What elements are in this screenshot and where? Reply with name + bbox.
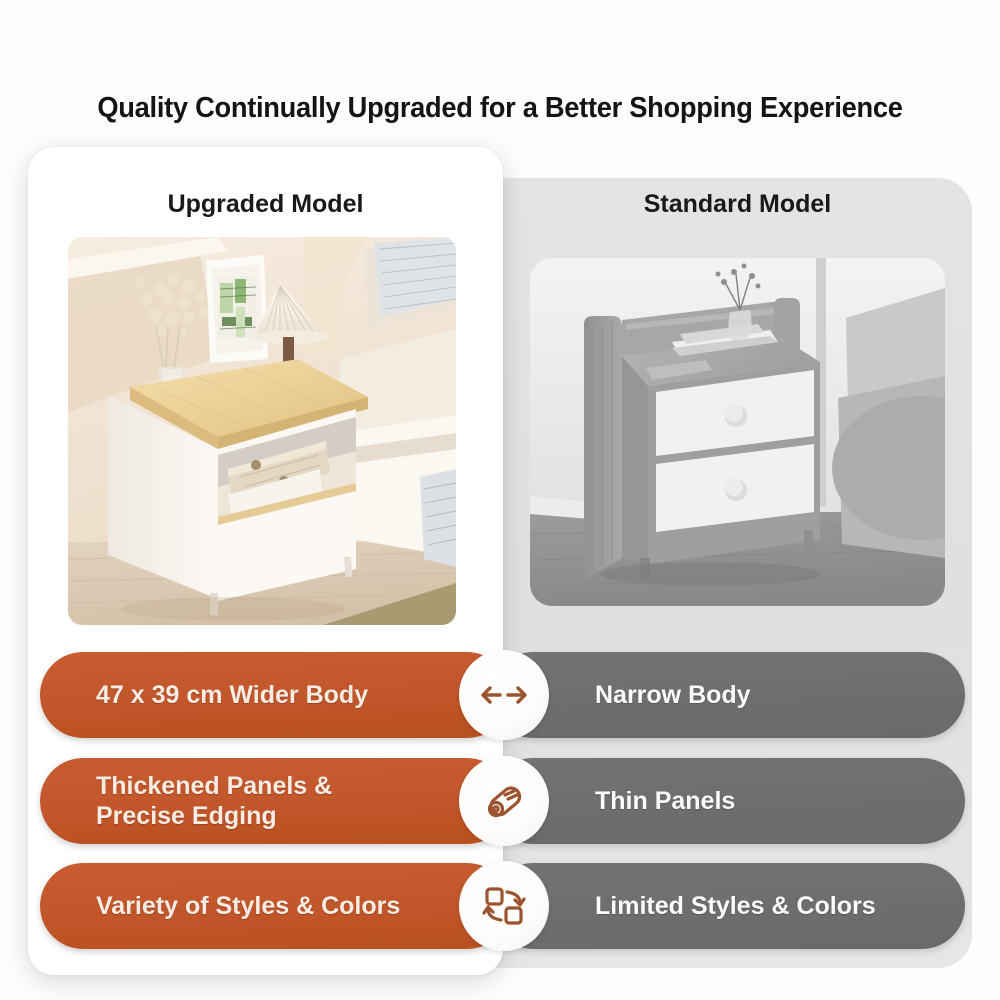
double-arrow-horizontal-icon [459,650,549,740]
upgraded-feature-label-2: Thickened Panels & Precise Edging [40,771,332,832]
page-title: Quality Continually Upgraded for a Bette… [30,92,970,125]
styles-swap-icon [459,861,549,951]
comparison-infographic: Quality Continually Upgraded for a Bette… [0,0,1000,1000]
upgraded-feature-pill-1[interactable]: 47 x 39 cm Wider Body [40,652,510,738]
standard-model-heading: Standard Model [503,190,972,219]
standard-feature-pill-2[interactable]: Thin Panels [490,758,965,844]
upgraded-feature-label-3: Variety of Styles & Colors [40,891,400,922]
upgraded-feature-pill-3[interactable]: Variety of Styles & Colors [40,863,510,949]
upgraded-model-photo [68,237,456,625]
feature-row-panels: Thickened Panels & Precise Edging Thin P… [0,758,1000,844]
upgraded-feature-label-1: 47 x 39 cm Wider Body [40,680,368,711]
wood-log-icon [459,756,549,846]
feature-row-styles: Variety of Styles & Colors Limited Style… [0,863,1000,949]
feature-row-wider-body: 47 x 39 cm Wider Body Narrow Body [0,652,1000,738]
upgraded-model-heading: Upgraded Model [28,190,503,219]
upgraded-feature-pill-2[interactable]: Thickened Panels & Precise Edging [40,758,510,844]
standard-model-photo [530,258,945,606]
standard-feature-pill-3[interactable]: Limited Styles & Colors [490,863,965,949]
standard-feature-pill-1[interactable]: Narrow Body [490,652,965,738]
